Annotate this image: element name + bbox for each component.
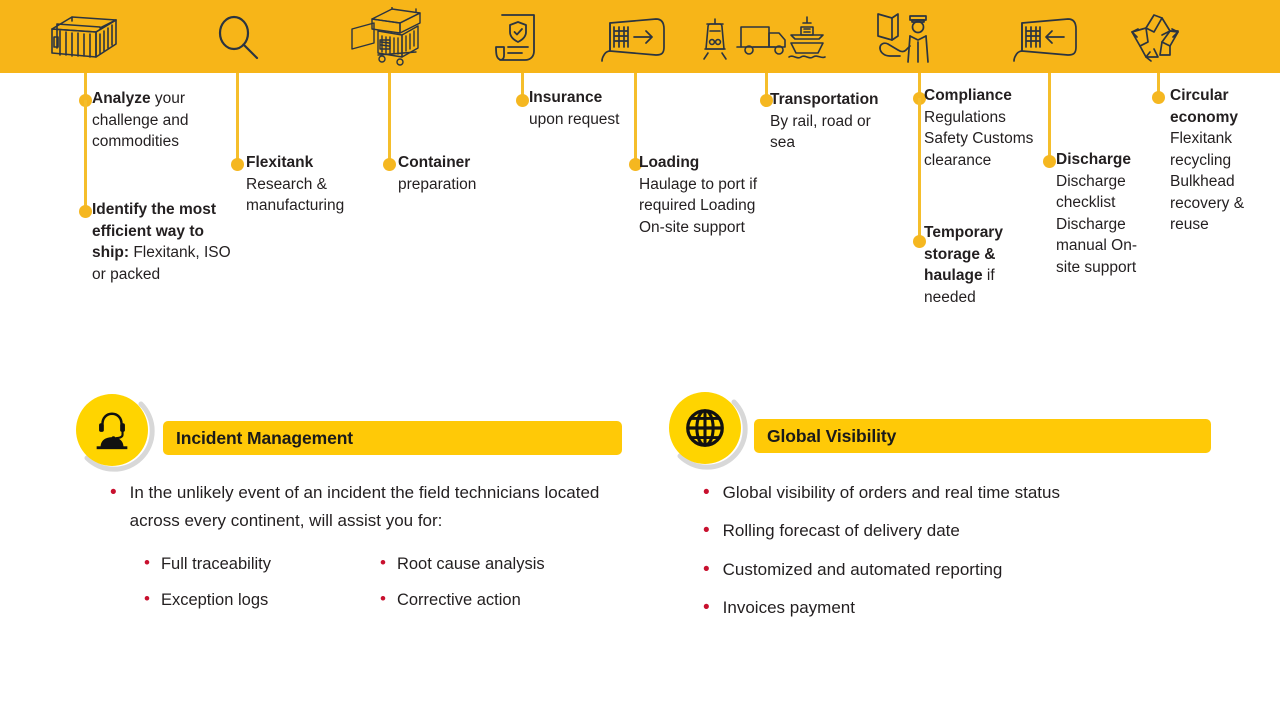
step-label-discharge: Discharge Discharge checklist Discharge … [1056,149,1156,278]
step-title-circular-economy: Circular economy [1170,87,1238,126]
connector-line-loading [634,73,637,163]
bullet-item: •Invoices payment [703,594,1203,622]
step-label-identify-efficient-way: Identify the most efficient way to ship:… [92,199,242,285]
step-title-loading: Loading [639,154,699,171]
bullet-text: In the unlikely event of an incident the… [130,479,630,535]
globe-icon [669,392,741,464]
bullet-point-icon: • [703,521,710,540]
step-desc-insurance: upon request [529,111,620,128]
container-loading-arrow-right-icon [592,10,672,66]
connector-line-container [388,73,391,163]
card-icon-wrap-incident-management [71,392,155,476]
train-truck-ship-transport-icon [700,10,830,66]
insurance-document-shield-icon [478,10,558,66]
bullet-point-icon: • [703,598,710,617]
sub-bullet-item: •Exception logs [144,588,354,612]
bullet-point-icon: • [703,560,710,579]
bullet-point-icon: • [144,554,150,571]
step-label-flexitank: Flexitank Research & manufacturing [246,152,376,217]
sub-bullet-item: •Corrective action [380,588,610,612]
bullet-item: •Customized and automated reporting [703,556,1203,584]
connector-dot-identify-efficient-way [79,205,92,218]
card-banner-incident-management[interactable]: Incident Management [163,421,622,455]
step-title-compliance: Compliance [924,87,1012,104]
bullet-item: •In the unlikely event of an incident th… [110,479,630,535]
step-label-circular-economy: Circular economy Flexitank recycling Bul… [1170,85,1274,236]
step-title-transportation: Transportation [770,91,879,108]
step-label-loading: Loading Haulage to port if required Load… [639,152,769,238]
sub-bullet-item: •Full traceability [144,552,354,576]
container-discharge-arrow-left-icon [1004,10,1084,66]
bullet-text: Rolling forecast of delivery date [723,517,960,545]
bullet-text: Customized and automated reporting [723,556,1003,584]
bullet-text: Invoices payment [723,594,855,622]
bullet-point-icon: • [144,590,150,607]
step-desc-loading: Haulage to port if required Loading On-s… [639,176,757,236]
card-icon-wrap-global-visibility [664,390,748,474]
sub-bullet-text: Root cause analysis [397,552,545,576]
step-desc-container: preparation [398,176,476,193]
process-icon-bar [0,0,1280,73]
step-desc-discharge: Discharge checklist Discharge manual On-… [1056,173,1137,276]
step-title-discharge: Discharge [1056,151,1131,168]
bullet-item: •Rolling forecast of delivery date [703,517,1203,545]
step-title-analyze: Analyze [92,90,151,107]
magnifier-search-icon [198,10,278,66]
sub-bullet-item: •Root cause analysis [380,552,610,576]
step-label-compliance: Compliance Regulations Safety Customs cl… [924,85,1034,171]
bullet-point-icon: • [703,483,710,502]
shipping-container-icon [44,10,124,66]
customs-officer-compliance-icon [866,10,946,66]
bullet-point-icon: • [380,554,386,571]
flexitank-manufacturing-icon [350,10,430,66]
bullet-point-icon: • [110,483,117,502]
step-desc-circular-economy: Flexitank recycling Bulkhead recovery & … [1170,130,1244,233]
recycling-circular-economy-icon [1114,10,1194,66]
step-label-temporary-storage: Temporary storage & haulage if needed [924,222,1024,308]
connector-dot-flexitank [231,158,244,171]
headset-support-icon [76,394,148,466]
sub-bullet-text: Exception logs [161,588,268,612]
step-desc-compliance: Regulations Safety Customs clearance [924,109,1033,169]
step-title-container: Container [398,154,470,171]
step-label-insurance: Insurance upon request [529,87,621,130]
card-title-global-visibility: Global Visibility [767,426,896,447]
connector-line-flexitank [236,73,239,163]
connector-dot-insurance [516,94,529,107]
connector-dot-circular-economy [1152,91,1165,104]
connector-dot-container [383,158,396,171]
step-desc-flexitank: Research & manufacturing [246,176,344,215]
step-title-insurance: Insurance [529,89,602,106]
connector-line-identify-efficient-way [84,100,87,211]
step-label-container: Container preparation [398,152,518,195]
sub-bullet-text: Full traceability [161,552,271,576]
sub-bullet-text: Corrective action [397,588,521,612]
step-desc-transportation: By rail, road or sea [770,113,871,152]
step-label-analyze: Analyze your challenge and commodities [92,88,232,153]
connector-dot-discharge [1043,155,1056,168]
step-label-transportation: Transportation By rail, road or sea [770,89,900,154]
connector-line-temporary-storage [918,98,921,241]
bullet-item: •Global visibility of orders and real ti… [703,479,1203,507]
card-banner-global-visibility[interactable]: Global Visibility [754,419,1211,453]
connector-line-discharge [1048,73,1051,161]
bullet-point-icon: • [380,590,386,607]
bullet-text: Global visibility of orders and real tim… [723,479,1060,507]
card-title-incident-management: Incident Management [176,428,353,449]
step-title-flexitank: Flexitank [246,154,313,171]
